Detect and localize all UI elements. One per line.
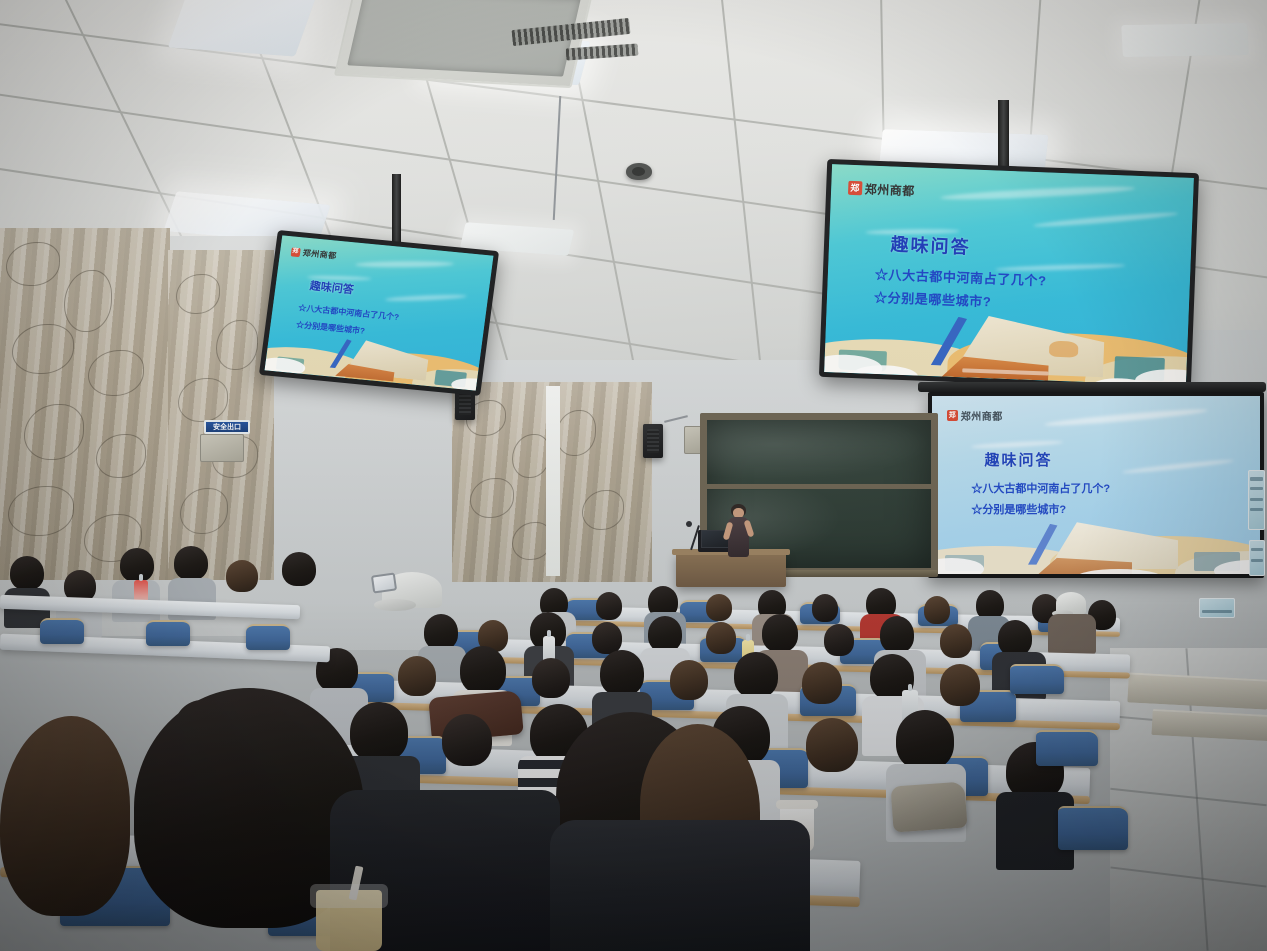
slide-title: 趣味问答 [890,231,971,260]
student-head [706,594,732,621]
student-head [940,664,980,706]
window-curtain-left [0,228,170,580]
student-head [924,596,950,624]
student-head [812,594,838,622]
slide-logo-text: 郑州商都 [302,247,337,261]
microphone-head [686,521,692,527]
chair[interactable] [246,624,290,650]
slide-title: 趣味问答 [984,449,1052,470]
student-head [174,546,208,580]
wall-speaker-front [643,424,663,458]
student-head [762,614,798,652]
slide-logo-text: 郑州商都 [961,408,1003,423]
student-head [706,622,736,654]
slide-left-tv: 郑 郑州商都 趣味问答 ☆八大古都中河南占了几个? ☆分别是哪些城市? [265,235,494,390]
wall-mounted-box [200,434,244,462]
ceiling-ac-vent [334,0,594,88]
front-projection-screen[interactable]: 郑 郑州商都 趣味问答 ☆八大古都中河南占了几个? ☆分别是哪些城市? [928,392,1264,578]
wall-poster-small [1249,540,1265,576]
projector-screen-roller [918,382,1266,392]
chair[interactable] [146,620,190,646]
foreground-student-head [0,716,130,916]
ceiling-light-panel [168,0,319,56]
slide-title: 趣味问答 [309,278,355,298]
student-head [424,614,458,650]
student-head [596,592,622,620]
ceiling-dome-camera [626,163,652,180]
exit-sign-label: 安全出口 [213,422,241,432]
foreground-student-torso [550,820,810,951]
wall-poster-environment [1199,598,1235,618]
window-light-gap [546,386,560,576]
student-head [734,652,778,698]
student-head [460,646,506,694]
student-head [896,710,954,770]
cup-lid [776,800,818,809]
chair[interactable] [40,618,84,644]
chair[interactable] [1036,730,1098,766]
student-head [600,650,644,696]
center-ceiling-tv[interactable]: 郑 郑州商都 趣味问答 ☆八大古都中河南占了几个? ☆分别是哪些城市? [819,159,1199,391]
slide-logo-seal: 郑 [947,410,958,421]
student-head [806,718,858,772]
student-head [282,552,316,586]
student-head [824,624,854,656]
slide-bullet-1: ☆八大古都中河南占了几个? [971,480,1110,496]
student-head [442,714,492,766]
student-head [350,702,408,762]
student-head [120,548,154,582]
student-head [648,616,682,652]
slide-projection: 郑 郑州商都 趣味问答 ☆八大古都中河南占了几个? ☆分别是哪些城市? [932,396,1260,574]
slide-center-tv: 郑 郑州商都 趣味问答 ☆八大古都中河南占了几个? ☆分别是哪些城市? [824,164,1194,386]
lecturer [722,504,756,560]
student-cap [1056,592,1086,614]
chair[interactable] [1010,664,1064,694]
student-torso [1048,614,1096,654]
student-head [532,658,570,698]
blackboard-divider [707,484,931,489]
backpack-on-chair [890,781,967,832]
student-head [940,624,972,658]
lecture-hall-photo: 安全出口 郑 郑州商都 趣味问答 ☆八大古都中河南占了几个? ☆分别是哪些城市? [0,0,1267,951]
student-head [226,560,258,592]
student-head [592,622,622,654]
slide-logo-seal: 郑 [290,247,300,257]
cup-wrapper [310,884,388,908]
tablet-device[interactable] [371,572,397,593]
student-head [670,660,708,700]
student-head [998,620,1032,656]
blackboard-glare [707,420,931,480]
slide-logo-text: 郑州商都 [865,180,916,199]
slide-logo-seal: 郑 [848,181,863,196]
left-ceiling-tv[interactable]: 郑 郑州商都 趣味问答 ☆八大古都中河南占了几个? ☆分别是哪些城市? [259,230,499,396]
window-curtain-center [168,250,274,580]
exit-sign: 安全出口 [204,420,250,434]
chair[interactable] [1058,806,1128,850]
student-head [880,616,914,653]
student-head [10,556,44,590]
student-head [398,656,436,696]
slide-artifact-vase [1049,340,1079,358]
student-head [802,662,842,704]
ceiling-light-panel [1121,23,1249,57]
wall-poster-upper [1248,470,1265,530]
